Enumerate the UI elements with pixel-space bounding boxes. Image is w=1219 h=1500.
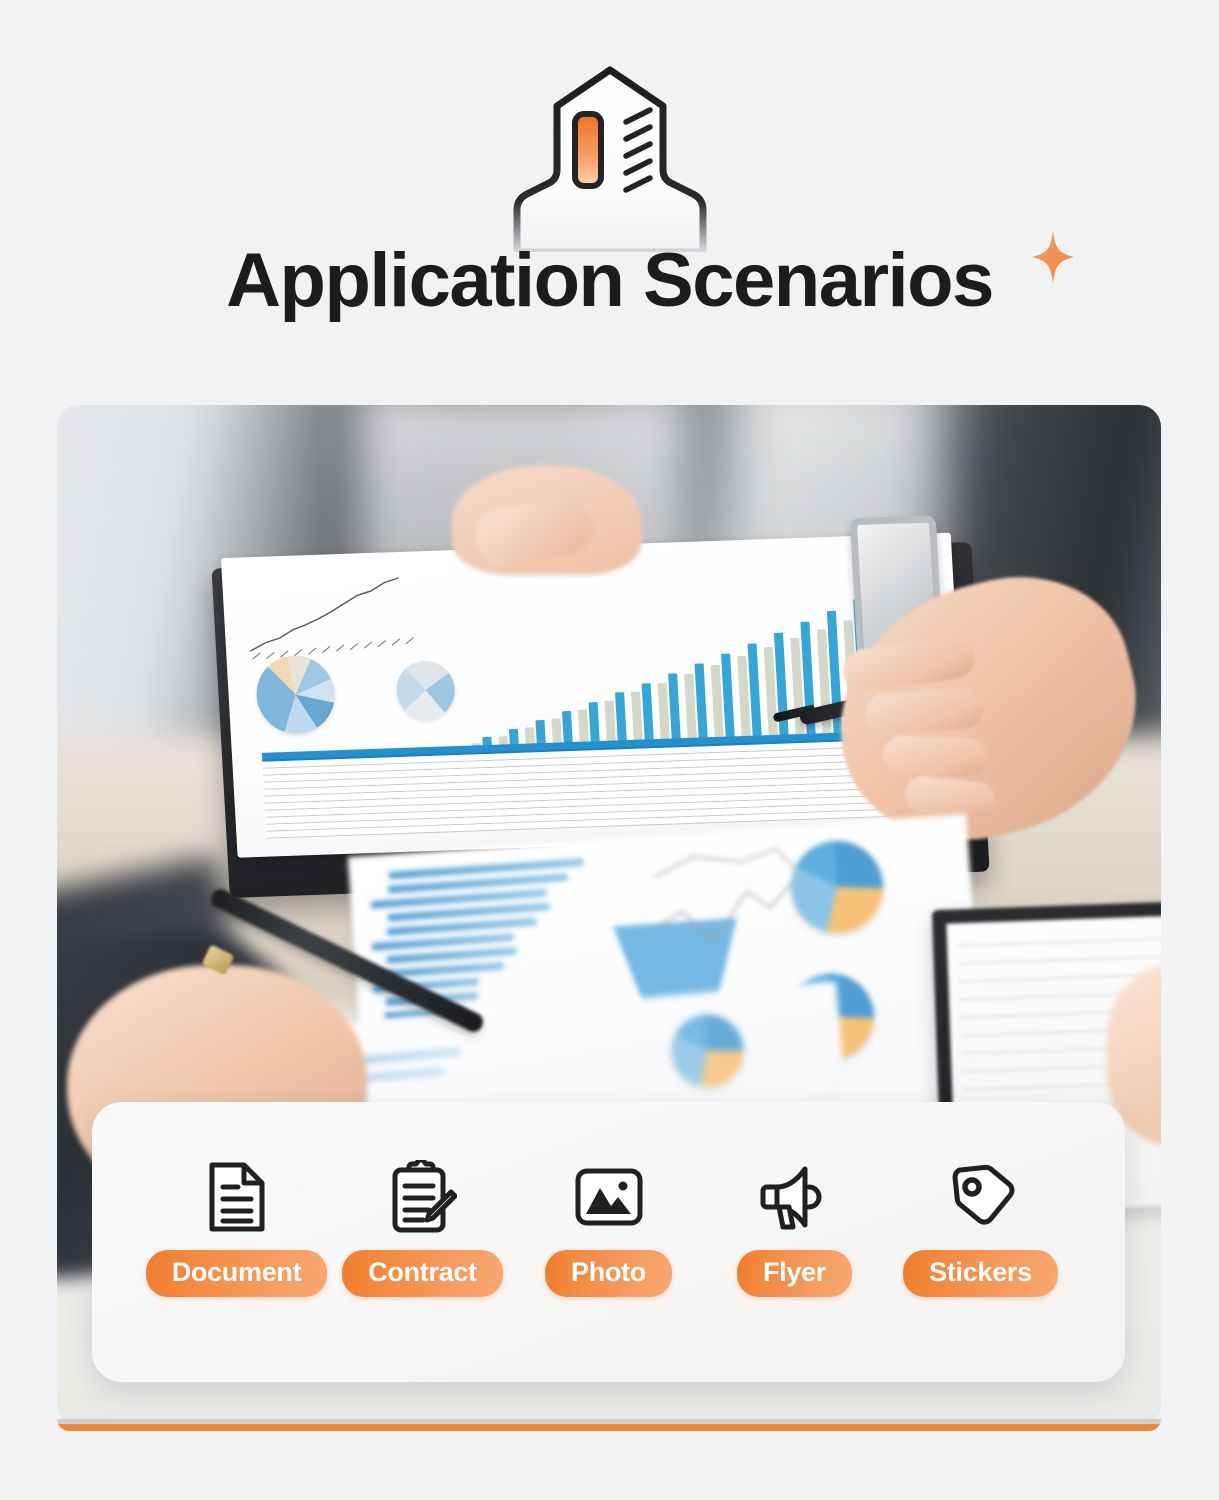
megaphone-icon xyxy=(757,1160,833,1234)
photo-accent-underline xyxy=(57,1419,1161,1431)
scenario-label-stickers: Stickers xyxy=(903,1250,1058,1297)
scenario-list: Document Contract xyxy=(92,1160,1125,1297)
scenario-item-stickers[interactable]: Stickers xyxy=(888,1160,1074,1297)
scenario-label-photo: Photo xyxy=(545,1250,672,1297)
report-pie-chart-2 xyxy=(395,660,456,720)
scenario-label-flyer: Flyer xyxy=(737,1250,852,1297)
scenario-label-contract: Contract xyxy=(342,1250,503,1297)
tag-icon xyxy=(944,1160,1018,1234)
ring-finger xyxy=(882,735,987,777)
scenario-item-flyer[interactable]: Flyer xyxy=(702,1160,888,1297)
middle-finger xyxy=(864,687,985,735)
scenario-item-photo[interactable]: Photo xyxy=(516,1160,702,1297)
building-skyscraper-icon xyxy=(505,62,715,252)
scenario-item-document[interactable]: Document xyxy=(144,1160,330,1297)
image-icon xyxy=(573,1160,645,1234)
scenario-label-document: Document xyxy=(146,1250,328,1297)
sparkle-icon xyxy=(1030,228,1076,286)
document-icon xyxy=(206,1160,268,1234)
report-pie-chart-1 xyxy=(255,654,337,735)
page-header: Application Scenarios xyxy=(0,0,1219,395)
scenario-item-contract[interactable]: Contract xyxy=(330,1160,516,1297)
clipboard-pen-icon xyxy=(389,1160,457,1234)
report-line-chart xyxy=(242,566,447,661)
application-scenarios-card: Document Contract xyxy=(92,1102,1125,1382)
